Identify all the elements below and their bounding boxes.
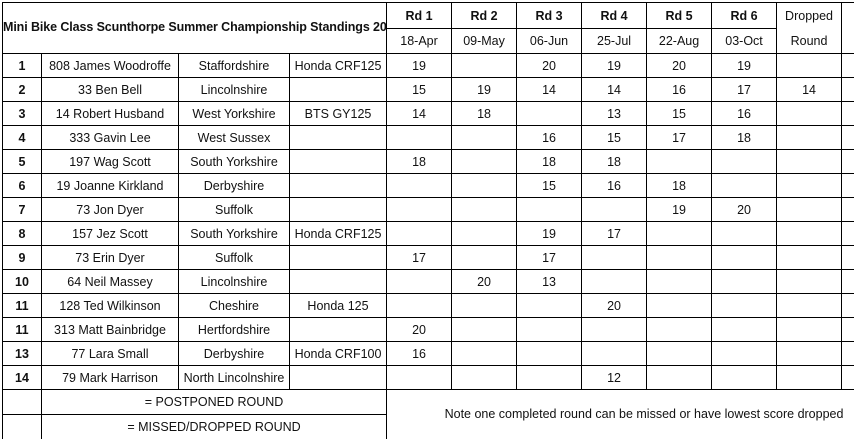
cell-round-6-score (712, 366, 777, 390)
cell-round-1-score (387, 174, 452, 198)
cell-round-5-score (647, 318, 712, 342)
header-date-4: 25-Jul (582, 29, 647, 54)
cell-round-2-score (452, 222, 517, 246)
cell-rider: 77 Lara Small (42, 342, 179, 366)
cell-round-2-score (452, 198, 517, 222)
cell-round-2-score (452, 318, 517, 342)
cell-rider: 313 Matt Bainbridge (42, 318, 179, 342)
cell-round-6-score: 19 (712, 54, 777, 78)
cell-total: 97 (842, 54, 854, 78)
header-round-1: Rd 1 (387, 3, 452, 29)
cell-round-6-score (712, 294, 777, 318)
cell-round-4-score: 15 (582, 126, 647, 150)
cell-rider: 808 James Woodroffe (42, 54, 179, 78)
cell-round-1-score (387, 126, 452, 150)
cell-round-5-score (647, 270, 712, 294)
table-row: 5197 Wag ScottSouth Yorkshire18181854 (3, 150, 854, 174)
standings-table: Mini Bike Class Scunthorpe Summer Champi… (2, 2, 854, 439)
cell-round-3-score: 16 (517, 126, 582, 150)
cell-position: 6 (3, 174, 42, 198)
cell-location: Suffolk (179, 246, 290, 270)
cell-bike: Honda CRF125 (290, 54, 387, 78)
cell-dropped-round (777, 318, 842, 342)
table-footer: = POSTPONED ROUND Note one completed rou… (3, 390, 854, 439)
cell-round-1-score (387, 222, 452, 246)
postponed-swatch (3, 390, 42, 415)
cell-round-4-score (582, 318, 647, 342)
cell-round-4-score: 14 (582, 78, 647, 102)
cell-dropped-round (777, 126, 842, 150)
sheet-title: Mini Bike Class Scunthorpe Summer Champi… (3, 3, 387, 54)
header-round-4: Rd 4 (582, 3, 647, 29)
cell-round-5-score: 18 (647, 174, 712, 198)
cell-round-4-score: 12 (582, 366, 647, 390)
cell-round-3-score (517, 198, 582, 222)
table-row: 11313 Matt BainbridgeHertfordshire2020 (3, 318, 854, 342)
cell-round-5-score (647, 294, 712, 318)
cell-bike (290, 318, 387, 342)
cell-round-2-score (452, 246, 517, 270)
cell-round-5-score: 15 (647, 102, 712, 126)
cell-round-5-score: 16 (647, 78, 712, 102)
cell-bike: Honda CRF125 (290, 222, 387, 246)
cell-dropped-round (777, 294, 842, 318)
cell-total: 33 (842, 270, 854, 294)
cell-dropped-round (777, 150, 842, 174)
cell-total: 34 (842, 246, 854, 270)
cell-round-3-score: 20 (517, 54, 582, 78)
cell-bike: BTS GY125 (290, 102, 387, 126)
cell-position: 10 (3, 270, 42, 294)
cell-round-2-score: 18 (452, 102, 517, 126)
cell-round-4-score (582, 270, 647, 294)
cell-round-6-score (712, 174, 777, 198)
table-row: 1064 Neil MasseyLincolnshire201333 (3, 270, 854, 294)
table-row: 1808 James WoodroffeStaffordshireHonda C… (3, 54, 854, 78)
cell-location: South Yorkshire (179, 150, 290, 174)
cell-location: Lincolnshire (179, 78, 290, 102)
cell-bike (290, 270, 387, 294)
standings-sheet: Mini Bike Class Scunthorpe Summer Champi… (0, 0, 854, 439)
cell-dropped-round (777, 174, 842, 198)
cell-round-2-score: 20 (452, 270, 517, 294)
header-date-3: 06-Jun (517, 29, 582, 54)
cell-rider: 333 Gavin Lee (42, 126, 179, 150)
cell-round-2-score (452, 126, 517, 150)
cell-round-4-score: 16 (582, 174, 647, 198)
cell-round-6-score (712, 246, 777, 270)
cell-round-2-score (452, 54, 517, 78)
cell-bike: Honda CRF100 (290, 342, 387, 366)
cell-location: Cheshire (179, 294, 290, 318)
legend-row-postponed: = POSTPONED ROUND Note one completed rou… (3, 390, 854, 415)
cell-round-1-score: 16 (387, 342, 452, 366)
cell-round-3-score: 14 (517, 78, 582, 102)
cell-round-2-score (452, 366, 517, 390)
cell-round-6-score (712, 270, 777, 294)
cell-round-5-score (647, 366, 712, 390)
cell-bike (290, 198, 387, 222)
cell-dropped-round (777, 222, 842, 246)
cell-total: 16 (842, 342, 854, 366)
header-round-5: Rd 5 (647, 3, 712, 29)
cell-rider: 128 Ted Wilkinson (42, 294, 179, 318)
cell-round-4-score: 20 (582, 294, 647, 318)
cell-dropped-round (777, 270, 842, 294)
cell-total: 66 (842, 126, 854, 150)
table-row: 973 Erin DyerSuffolk171734 (3, 246, 854, 270)
cell-position: 5 (3, 150, 42, 174)
cell-round-6-score: 18 (712, 126, 777, 150)
header-dropped-round-line2: Round (777, 29, 842, 54)
header-round-6: Rd 6 (712, 3, 777, 29)
cell-rider: 33 Ben Bell (42, 78, 179, 102)
cell-bike (290, 366, 387, 390)
cell-location: South Yorkshire (179, 222, 290, 246)
cell-location: West Sussex (179, 126, 290, 150)
cell-dropped-round (777, 366, 842, 390)
cell-round-3-score: 17 (517, 246, 582, 270)
table-row: 4333 Gavin LeeWest Sussex1615171866 (3, 126, 854, 150)
cell-position: 14 (3, 366, 42, 390)
header-total: Tot (842, 3, 854, 54)
table-row: 233 Ben BellLincolnshire1519141416171481 (3, 78, 854, 102)
cell-round-1-score: 18 (387, 150, 452, 174)
cell-dropped-round (777, 246, 842, 270)
table-row: 1479 Mark HarrisonNorth Lincolnshire1212 (3, 366, 854, 390)
cell-location: Lincolnshire (179, 270, 290, 294)
cell-round-1-score (387, 198, 452, 222)
cell-total: 36 (842, 222, 854, 246)
cell-total: 76 (842, 102, 854, 126)
missed-swatch (3, 415, 42, 439)
cell-round-1-score (387, 270, 452, 294)
cell-round-4-score: 19 (582, 54, 647, 78)
cell-round-6-score (712, 150, 777, 174)
cell-round-3-score (517, 102, 582, 126)
cell-round-3-score: 18 (517, 150, 582, 174)
cell-rider: 64 Neil Massey (42, 270, 179, 294)
cell-total: 20 (842, 318, 854, 342)
table-row: 773 Jon DyerSuffolk192039 (3, 198, 854, 222)
footer-note: Note one completed round can be missed o… (387, 390, 854, 439)
header-row-top: Mini Bike Class Scunthorpe Summer Champi… (3, 3, 854, 29)
cell-location: West Yorkshire (179, 102, 290, 126)
header-date-5: 22-Aug (647, 29, 712, 54)
cell-bike (290, 246, 387, 270)
cell-round-4-score: 13 (582, 102, 647, 126)
cell-round-2-score (452, 174, 517, 198)
cell-location: Derbyshire (179, 174, 290, 198)
cell-round-3-score (517, 366, 582, 390)
cell-position: 4 (3, 126, 42, 150)
cell-rider: 73 Jon Dyer (42, 198, 179, 222)
cell-round-2-score (452, 342, 517, 366)
cell-rider: 157 Jez Scott (42, 222, 179, 246)
cell-round-6-score: 16 (712, 102, 777, 126)
cell-round-4-score: 17 (582, 222, 647, 246)
cell-rider: 19 Joanne Kirkland (42, 174, 179, 198)
cell-round-2-score: 19 (452, 78, 517, 102)
cell-rider: 197 Wag Scott (42, 150, 179, 174)
cell-rider: 79 Mark Harrison (42, 366, 179, 390)
cell-position: 13 (3, 342, 42, 366)
cell-round-1-score (387, 366, 452, 390)
cell-round-4-score: 18 (582, 150, 647, 174)
cell-bike (290, 174, 387, 198)
cell-position: 11 (3, 294, 42, 318)
cell-round-1-score: 17 (387, 246, 452, 270)
cell-location: Suffolk (179, 198, 290, 222)
cell-dropped-round (777, 54, 842, 78)
cell-round-3-score: 13 (517, 270, 582, 294)
missed-legend-label: = MISSED/DROPPED ROUND (42, 415, 387, 439)
cell-round-5-score (647, 246, 712, 270)
cell-position: 7 (3, 198, 42, 222)
cell-round-2-score (452, 294, 517, 318)
cell-bike: Honda 125 (290, 294, 387, 318)
cell-location: Derbyshire (179, 342, 290, 366)
postponed-legend-label: = POSTPONED ROUND (42, 390, 387, 415)
cell-rider: 14 Robert Husband (42, 102, 179, 126)
cell-round-6-score: 17 (712, 78, 777, 102)
cell-total: 39 (842, 198, 854, 222)
cell-dropped-round: 14 (777, 78, 842, 102)
cell-bike (290, 78, 387, 102)
cell-round-6-score (712, 318, 777, 342)
cell-position: 9 (3, 246, 42, 270)
cell-round-3-score (517, 318, 582, 342)
cell-dropped-round (777, 342, 842, 366)
cell-total: 20 (842, 294, 854, 318)
cell-round-1-score: 15 (387, 78, 452, 102)
cell-bike (290, 150, 387, 174)
cell-dropped-round (777, 198, 842, 222)
table-header: Mini Bike Class Scunthorpe Summer Champi… (3, 3, 854, 54)
cell-round-1-score: 19 (387, 54, 452, 78)
cell-position: 3 (3, 102, 42, 126)
header-date-1: 18-Apr (387, 29, 452, 54)
cell-round-1-score: 14 (387, 102, 452, 126)
cell-position: 11 (3, 318, 42, 342)
cell-round-6-score: 20 (712, 198, 777, 222)
header-date-6: 03-Oct (712, 29, 777, 54)
header-dropped-round-line1: Dropped (777, 3, 842, 29)
cell-round-3-score (517, 294, 582, 318)
cell-bike (290, 126, 387, 150)
cell-location: Staffordshire (179, 54, 290, 78)
cell-round-4-score (582, 198, 647, 222)
cell-total: 54 (842, 150, 854, 174)
cell-dropped-round (777, 102, 842, 126)
cell-position: 1 (3, 54, 42, 78)
table-row: 1377 Lara SmallDerbyshireHonda CRF100161… (3, 342, 854, 366)
cell-round-5-score: 17 (647, 126, 712, 150)
table-row: 314 Robert HusbandWest YorkshireBTS GY12… (3, 102, 854, 126)
cell-round-3-score: 19 (517, 222, 582, 246)
cell-position: 8 (3, 222, 42, 246)
cell-round-3-score: 15 (517, 174, 582, 198)
cell-round-5-score (647, 222, 712, 246)
cell-total: 49 (842, 174, 854, 198)
cell-round-6-score (712, 222, 777, 246)
table-row: 8157 Jez ScottSouth YorkshireHonda CRF12… (3, 222, 854, 246)
cell-round-5-score (647, 150, 712, 174)
cell-location: North Lincolnshire (179, 366, 290, 390)
header-round-3: Rd 3 (517, 3, 582, 29)
cell-round-2-score (452, 150, 517, 174)
cell-rider: 73 Erin Dyer (42, 246, 179, 270)
cell-round-6-score (712, 342, 777, 366)
cell-total: 12 (842, 366, 854, 390)
table-body: 1808 James WoodroffeStaffordshireHonda C… (3, 54, 854, 390)
header-round-2: Rd 2 (452, 3, 517, 29)
cell-round-3-score (517, 342, 582, 366)
cell-location: Hertfordshire (179, 318, 290, 342)
cell-round-5-score: 19 (647, 198, 712, 222)
cell-round-1-score (387, 294, 452, 318)
cell-round-5-score (647, 342, 712, 366)
cell-round-4-score (582, 342, 647, 366)
cell-round-5-score: 20 (647, 54, 712, 78)
cell-position: 2 (3, 78, 42, 102)
header-date-2: 09-May (452, 29, 517, 54)
cell-total: 81 (842, 78, 854, 102)
cell-round-1-score: 20 (387, 318, 452, 342)
table-row: 11128 Ted WilkinsonCheshireHonda 1252020 (3, 294, 854, 318)
cell-round-4-score (582, 246, 647, 270)
table-row: 619 Joanne KirklandDerbyshire15161849 (3, 174, 854, 198)
